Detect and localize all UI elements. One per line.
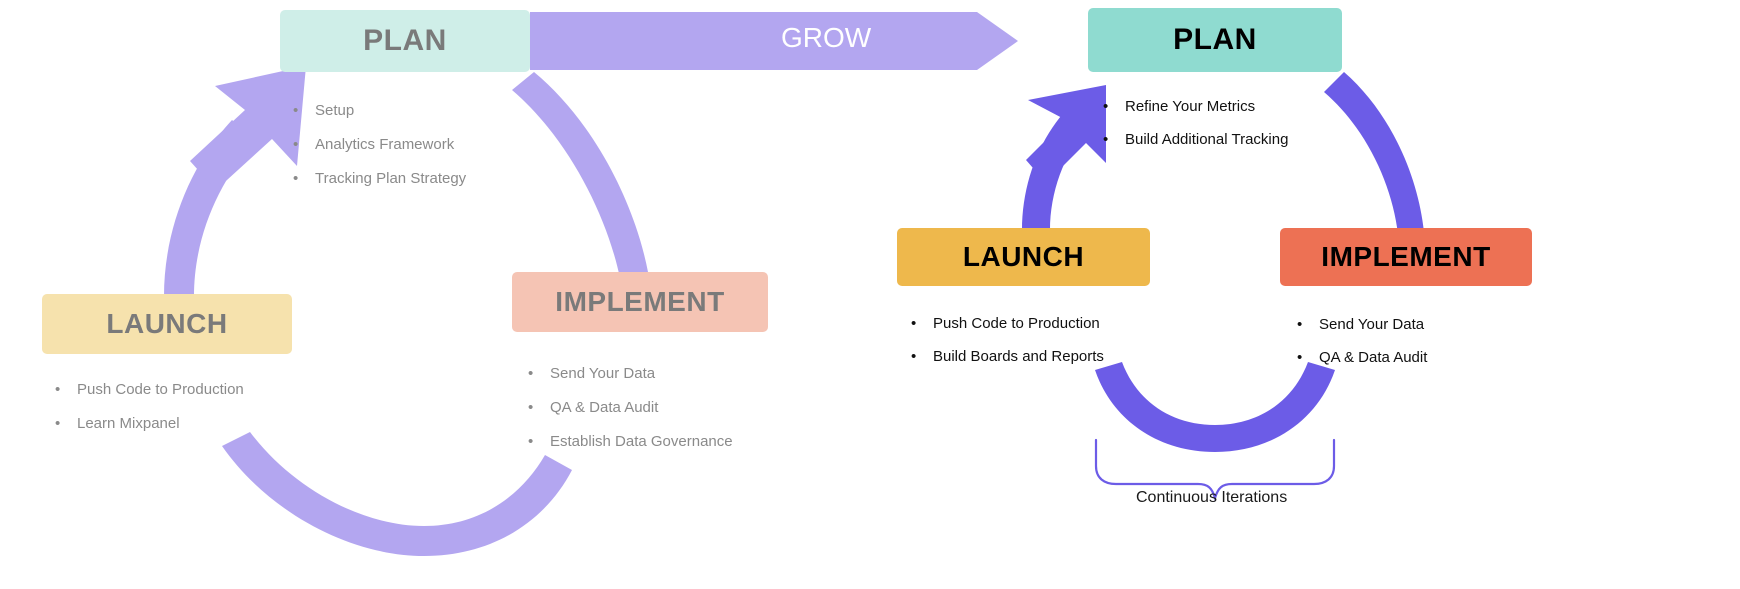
stage-bullets-implement-continuous: Send Your Data QA & Data Audit xyxy=(1297,308,1427,374)
stage-box-plan-initial[interactable]: PLAN xyxy=(280,10,530,72)
right-cycle-arrow-launch-to-plan xyxy=(1022,108,1088,230)
grow-banner-shape xyxy=(530,12,1018,70)
list-item: Setup xyxy=(293,94,466,128)
right-cycle-arrow-implement-to-launch xyxy=(1095,362,1335,452)
stage-box-launch-continuous[interactable]: LAUNCH xyxy=(897,228,1150,286)
list-item: Send Your Data xyxy=(528,357,733,391)
stage-title-implement-initial: IMPLEMENT xyxy=(555,288,724,316)
stage-bullets-launch-initial: Push Code to Production Learn Mixpanel xyxy=(55,373,244,441)
list-item: Build Boards and Reports xyxy=(911,340,1104,373)
diagram-canvas: GROW PLAN Setup Analytics Framework Trac… xyxy=(0,0,1740,589)
stage-bullets-plan-continuous: Refine Your Metrics Build Additional Tra… xyxy=(1103,90,1288,156)
left-cycle-arrowhead xyxy=(190,66,306,190)
stage-title-plan-continuous: PLAN xyxy=(1173,25,1257,55)
stage-box-implement-continuous[interactable]: IMPLEMENT xyxy=(1280,228,1532,286)
list-item: Push Code to Production xyxy=(55,373,244,407)
list-item: Build Additional Tracking xyxy=(1103,123,1288,156)
list-item: QA & Data Audit xyxy=(528,391,733,425)
list-item: Tracking Plan Strategy xyxy=(293,162,466,196)
list-item: Analytics Framework xyxy=(293,128,466,162)
stage-title-plan-initial: PLAN xyxy=(363,26,447,56)
right-cycle-arrow-plan-to-implement xyxy=(1324,72,1424,234)
list-item: Establish Data Governance xyxy=(528,425,733,459)
stage-box-plan-continuous[interactable]: PLAN xyxy=(1088,8,1342,72)
list-item: Refine Your Metrics xyxy=(1103,90,1288,123)
list-item: QA & Data Audit xyxy=(1297,341,1427,374)
right-cycle-arrowhead xyxy=(1026,85,1106,183)
stage-box-implement-initial[interactable]: IMPLEMENT xyxy=(512,272,768,332)
list-item: Send Your Data xyxy=(1297,308,1427,341)
stage-bullets-implement-initial: Send Your Data QA & Data Audit Establish… xyxy=(528,357,733,459)
stage-box-launch-initial[interactable]: LAUNCH xyxy=(42,294,292,354)
stage-title-implement-continuous: IMPLEMENT xyxy=(1321,243,1490,271)
continuous-iterations-label: Continuous Iterations xyxy=(1136,489,1287,507)
list-item: Push Code to Production xyxy=(911,307,1104,340)
stage-title-launch-continuous: LAUNCH xyxy=(963,243,1084,271)
grow-banner-label: GROW xyxy=(781,22,871,54)
stage-bullets-launch-continuous: Push Code to Production Build Boards and… xyxy=(911,307,1104,373)
list-item: Learn Mixpanel xyxy=(55,407,244,441)
stage-bullets-plan-initial: Setup Analytics Framework Tracking Plan … xyxy=(293,94,466,196)
left-cycle-arrow-plan-to-implement xyxy=(512,72,648,278)
left-cycle-arrow-launch-to-plan xyxy=(164,120,256,296)
left-cycle-arrow-implement-to-launch xyxy=(222,432,572,556)
stage-title-launch-initial: LAUNCH xyxy=(106,310,227,338)
